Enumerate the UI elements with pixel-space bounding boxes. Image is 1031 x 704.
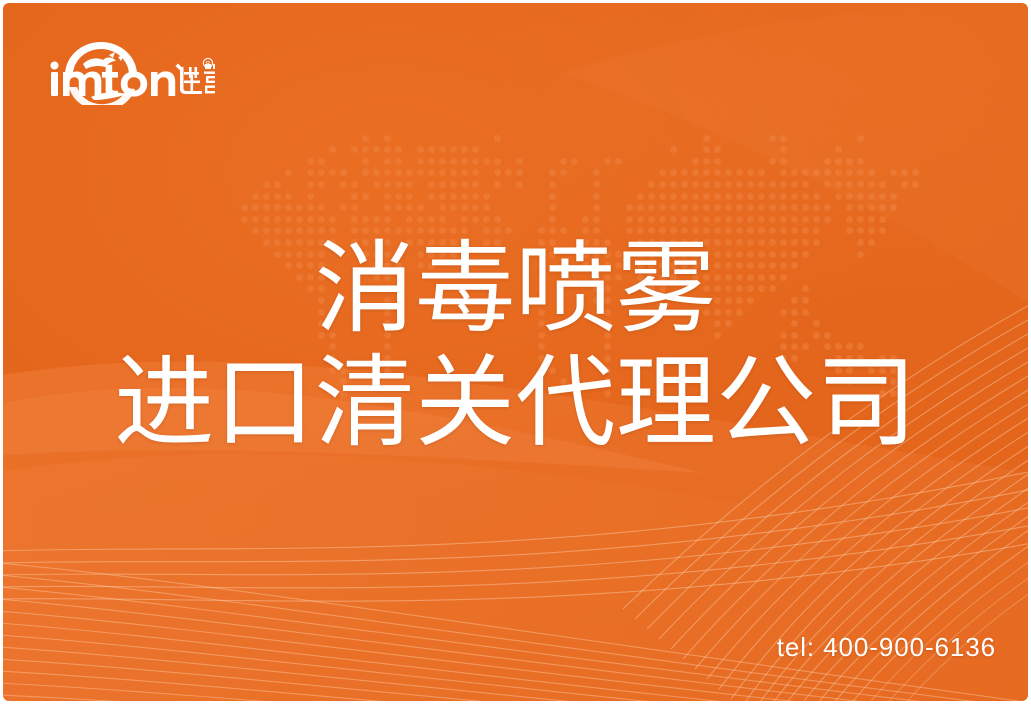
headline-line-2: 进口清关代理公司: [3, 347, 1028, 459]
telephone-text: tel: 400-900-6136: [777, 632, 996, 663]
brand-logo: R: [39, 31, 215, 105]
globe-swoosh-logo: R: [39, 31, 215, 105]
headline-line-1: 消毒喷雾: [3, 231, 1028, 347]
orange-card: 消毒喷雾 进口清关代理公司 tel: 400-900-6136: [3, 3, 1028, 701]
registered-mark-icon: R: [203, 58, 212, 67]
svg-text:R: R: [206, 62, 211, 68]
page-title: 消毒喷雾 进口清关代理公司: [3, 231, 1028, 459]
banner-canvas: 消毒喷雾 进口清关代理公司 tel: 400-900-6136: [0, 0, 1031, 704]
